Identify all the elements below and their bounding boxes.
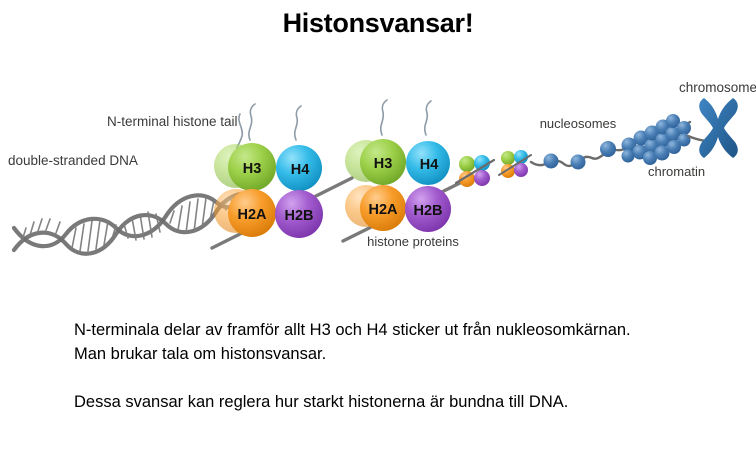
label-n-terminal-histone-tail: N-terminal histone tail: [107, 114, 238, 129]
histone-sphere-h2a-2: H2A: [360, 185, 406, 231]
histone-sphere-label-h3-1: H3: [243, 161, 262, 177]
body-paragraph-2: Dessa svansar kan reglera hur starkt his…: [74, 390, 714, 414]
mini-nucleosome-cluster-2: [499, 150, 531, 178]
nucleosome-beads: [544, 141, 617, 170]
histone-tail-h4-2: [425, 101, 431, 135]
histone-octamer-2: H3 H4 H2A H2B: [343, 100, 470, 241]
histone-tail-h3-2: [381, 100, 387, 135]
chromatin-bead-cluster: [622, 114, 692, 165]
body-paragraph-1-line-1: N-terminala delar av framför allt H3 och…: [74, 318, 714, 342]
label-chromosome: chromosome: [679, 80, 756, 95]
histone-sphere-label-h4-1: H4: [291, 162, 310, 178]
histone-tail-h3-1: [249, 104, 255, 140]
label-double-stranded-dna: double-stranded DNA: [8, 153, 138, 168]
chromosome-icon: [699, 98, 738, 158]
label-chromatin: chromatin: [648, 164, 705, 179]
label-nucleosomes: nucleosomes: [540, 116, 617, 131]
histone-sphere-label-h4-2: H4: [420, 157, 439, 173]
histone-sphere-label-h2a-2: H2A: [368, 202, 398, 218]
histone-tail-h4-1: [295, 106, 301, 140]
histone-sphere-label-h2b-2: H2B: [413, 203, 442, 219]
histone-sphere-h2a-1: H2A: [228, 189, 276, 237]
slide-canvas: Histonsvansar!: [0, 0, 756, 474]
page-title: Histonsvansar!: [0, 8, 756, 39]
histone-sphere-h2b-2: H2B: [405, 186, 451, 232]
histone-sphere-label-h2a-1: H2A: [237, 207, 267, 223]
body-paragraph-1-line-2: Man brukar tala om histonsvansar.: [74, 342, 714, 366]
histone-sphere-h4-2: H4: [406, 141, 450, 185]
histone-sphere-h4-1: H4: [276, 145, 322, 191]
histone-sphere-h3-2: H3: [360, 139, 406, 185]
histone-sphere-h3-1: H3: [228, 143, 276, 191]
chromatin-packaging-diagram: double-stranded DNA N-terminal histone t…: [0, 78, 756, 263]
body-text-block: N-terminala delar av framför allt H3 och…: [74, 318, 714, 414]
histone-sphere-h2b-1: H2B: [275, 190, 323, 238]
mini-nucleosome-cluster-1: [456, 155, 494, 187]
histone-sphere-label-h2b-1: H2B: [284, 208, 313, 224]
histone-sphere-label-h3-2: H3: [374, 156, 393, 172]
label-histone-proteins: histone proteins: [367, 234, 459, 249]
